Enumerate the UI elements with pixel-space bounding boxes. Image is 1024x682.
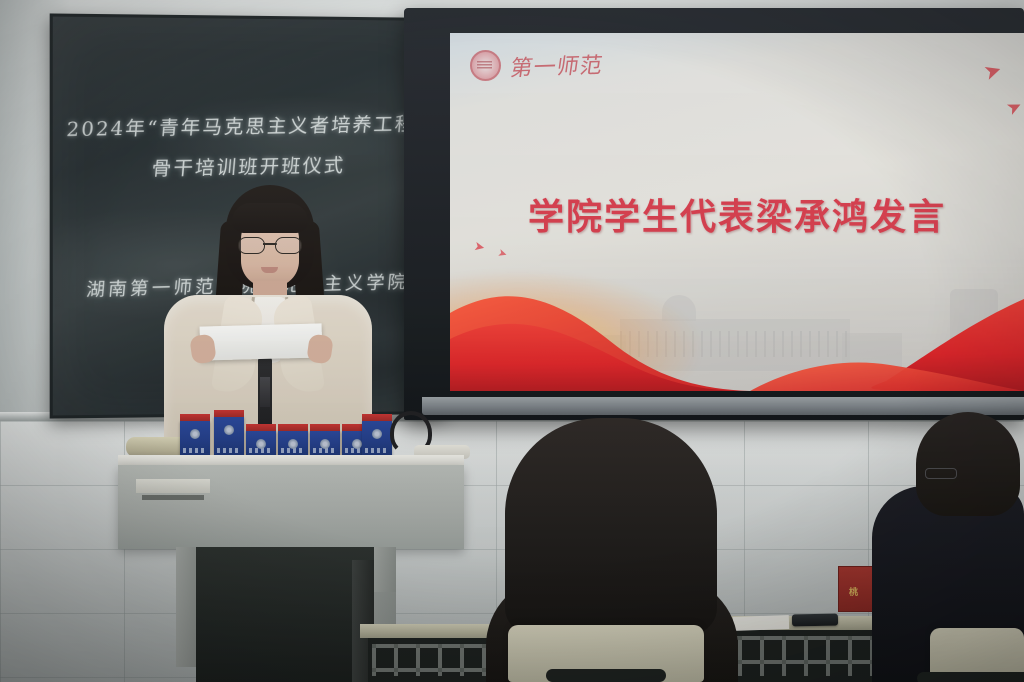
hair-fringe (232, 203, 308, 233)
slide-title: 学院学生代表梁承鸿发言 (450, 188, 1024, 240)
audience-person-right-head (916, 412, 1020, 516)
podium-body (118, 465, 464, 549)
dove-icon: ➤ (1003, 95, 1024, 120)
smartphone (792, 614, 838, 627)
gift-box-row (118, 411, 464, 457)
podium-sticker-bar (142, 495, 204, 500)
podium-sticker (136, 479, 210, 493)
glasses-icon (238, 237, 302, 253)
display-screen[interactable]: 第一师范 ➤ ➤ ➤ ➤ 学院学生代表梁承鸿发言 (450, 33, 1024, 391)
audience-person-center-hair (505, 418, 717, 634)
slide-logo-text: 第一师范 (508, 47, 605, 82)
display-bottom-bezel (422, 397, 1024, 415)
slide-logo: 第一师范 (470, 49, 603, 81)
red-ribbon-graphic (450, 261, 1024, 391)
interactive-display[interactable]: 第一师范 ➤ ➤ ➤ ➤ 学院学生代表梁承鸿发言 (404, 8, 1024, 420)
papers-right (733, 615, 789, 631)
university-seal-icon (470, 50, 501, 81)
speech-paper (200, 323, 323, 360)
classroom-photo: 2024年“青年马克思主义者培养工程” 骨干培训班开班仪式 湖南第一师范学院马克… (0, 0, 1024, 682)
chair-center (508, 625, 704, 682)
dove-icon: ➤ (981, 57, 1005, 86)
glasses-icon (925, 468, 957, 479)
chair-right (930, 628, 1024, 682)
